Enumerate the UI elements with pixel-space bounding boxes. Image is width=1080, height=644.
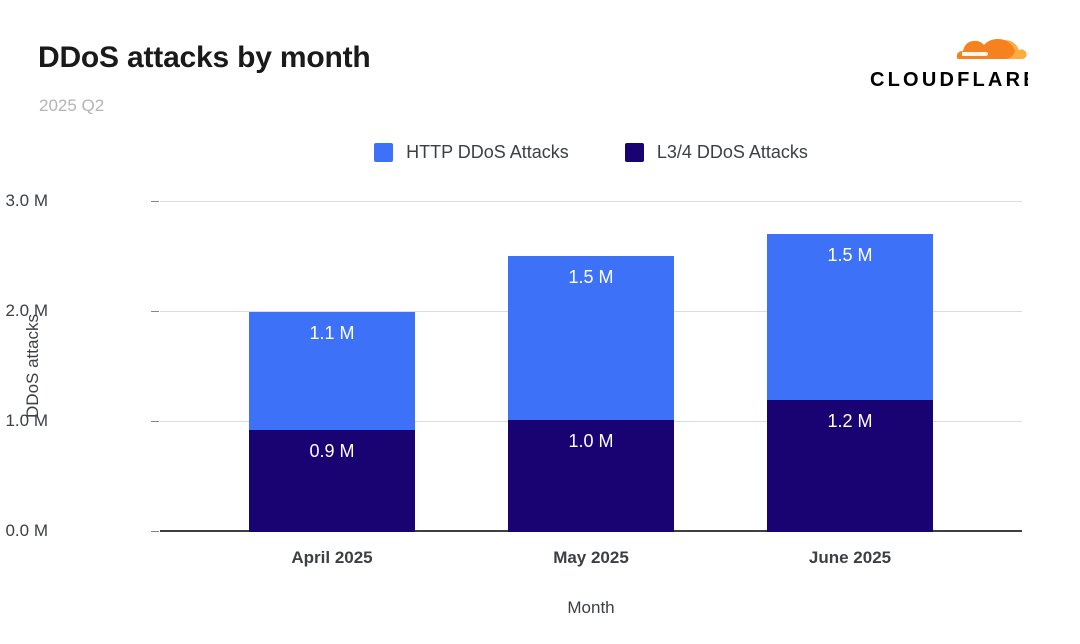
bar-segment-l34-april[interactable]: 0.9 M xyxy=(249,430,415,532)
x-tick-label-june: June 2025 xyxy=(809,548,891,568)
bar-segment-http-may[interactable]: 1.5 M xyxy=(508,256,674,420)
bar-value-http-april: 1.1 M xyxy=(309,323,354,344)
y-axis-title: DDoS attacks xyxy=(23,314,43,418)
cloud-icon xyxy=(957,39,1027,59)
y-tick-0m xyxy=(151,531,159,532)
legend-label-l34: L3/4 DDoS Attacks xyxy=(657,142,808,163)
y-tick-1m xyxy=(151,421,159,422)
gridline-3m xyxy=(160,201,1022,202)
x-tick-label-april: April 2025 xyxy=(291,548,372,568)
legend-item-http[interactable]: HTTP DDoS Attacks xyxy=(374,142,569,163)
bar-group-april[interactable]: 1.1 M 0.9 M xyxy=(249,312,415,532)
x-tick-label-may: May 2025 xyxy=(553,548,629,568)
chart-legend: HTTP DDoS Attacks L3/4 DDoS Attacks xyxy=(160,142,1022,163)
bar-value-http-may: 1.5 M xyxy=(568,267,613,288)
bar-group-may[interactable]: 1.5 M 1.0 M xyxy=(508,256,674,532)
bar-segment-http-april[interactable]: 1.1 M xyxy=(249,312,415,430)
chart-subtitle: 2025 Q2 xyxy=(39,96,104,116)
bar-group-june[interactable]: 1.5 M 1.2 M xyxy=(767,234,933,532)
legend-item-l34[interactable]: L3/4 DDoS Attacks xyxy=(625,142,808,163)
cloudflare-logo: CLOUDFLARE xyxy=(868,30,1028,92)
bar-segment-http-june[interactable]: 1.5 M xyxy=(767,234,933,400)
bar-value-http-june: 1.5 M xyxy=(827,245,872,266)
bar-value-l34-may: 1.0 M xyxy=(568,431,613,452)
legend-label-http: HTTP DDoS Attacks xyxy=(406,142,569,163)
legend-swatch-http xyxy=(374,143,393,162)
bar-segment-l34-may[interactable]: 1.0 M xyxy=(508,420,674,532)
plot-area: 1.1 M 0.9 M 1.5 M 1.0 M 1.5 M 1.2 M xyxy=(160,201,1022,532)
page-title: DDoS attacks by month xyxy=(38,41,371,75)
legend-swatch-l34 xyxy=(625,143,644,162)
y-tick-3m xyxy=(151,201,159,202)
y-tick-2m xyxy=(151,311,159,312)
y-tick-label-0: 0.0 M xyxy=(0,521,48,541)
cloudflare-wordmark: CLOUDFLARE xyxy=(870,69,1028,91)
bar-segment-l34-june[interactable]: 1.2 M xyxy=(767,400,933,532)
x-axis-title: Month xyxy=(160,598,1022,618)
bar-value-l34-april: 0.9 M xyxy=(309,441,354,462)
y-tick-label-3: 3.0 M xyxy=(0,191,48,211)
bar-value-l34-june: 1.2 M xyxy=(827,411,872,432)
